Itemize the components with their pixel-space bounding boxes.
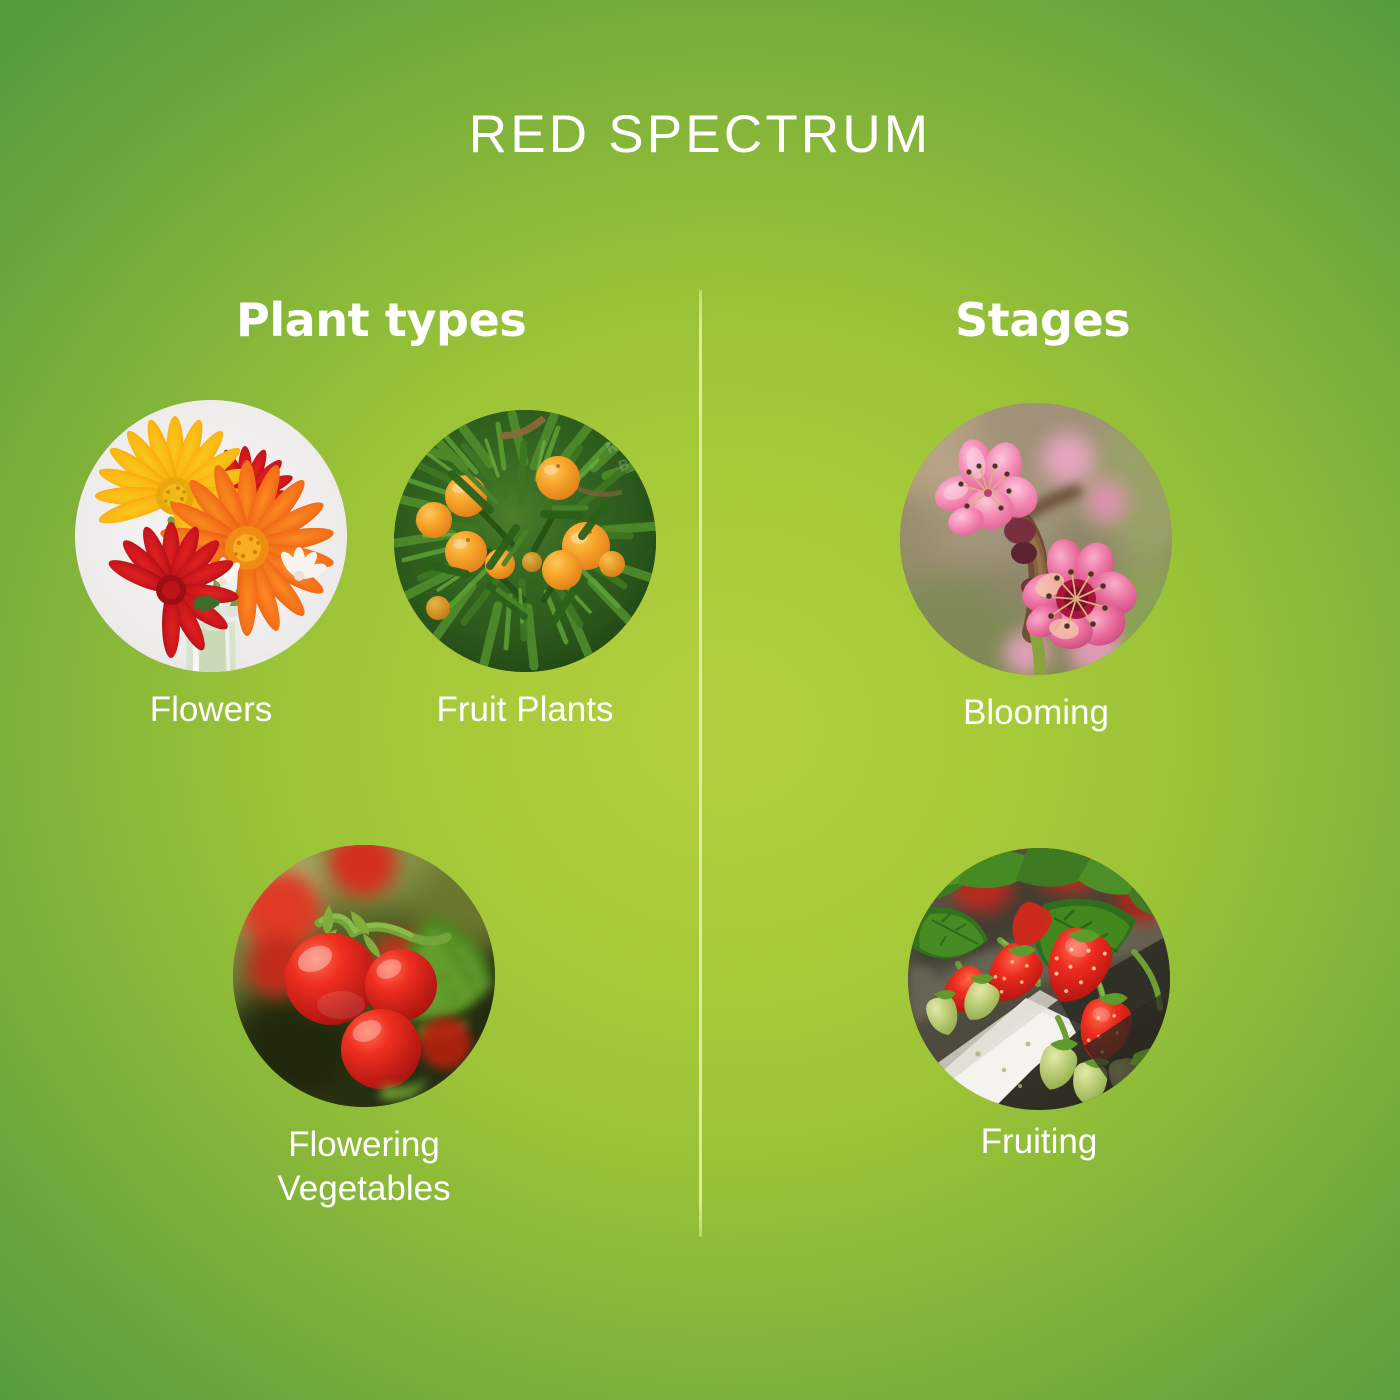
cherry-tomatoes-on-vine-photo [233,845,495,1107]
orange-citrus-tree-photo: R B [394,410,656,672]
circle-image-fruiting [908,848,1170,1110]
card-flowers[interactable]: Flowers [75,400,347,672]
card-flowering-vegetables[interactable]: Flowering Vegetables [233,845,495,1107]
page-title: RED SPECTRUM [0,104,1400,165]
circle-image-blooming [900,403,1172,675]
card-fruiting[interactable]: Fruiting [908,848,1170,1110]
strawberry-plants-in-bed-photo [908,848,1170,1110]
circle-image-flowers [75,400,347,672]
card-caption-blooming: Blooming [871,691,1201,735]
gerbera-flowers-in-glass-jar-photo [75,400,347,672]
card-caption-fruiting: Fruiting [874,1120,1204,1164]
column-heading-stages: Stages [955,293,1130,347]
card-caption-fruit-plants: Fruit Plants [345,688,705,732]
poster-canvas: RED SPECTRUM Plant types Stages [0,0,1400,1400]
column-divider [699,290,702,1237]
circle-image-fruit-plants: R B [394,410,656,672]
card-caption-flowers: Flowers [46,688,376,732]
card-caption-flowering-vegetables: Flowering Vegetables [199,1123,529,1211]
pink-peach-blossom-branch-photo [900,403,1172,675]
card-fruit-plants[interactable]: R B Fruit Plants [394,410,656,672]
circle-image-flowering-vegetables [233,845,495,1107]
card-blooming[interactable]: Blooming [900,403,1172,675]
column-heading-plant-types: Plant types [236,293,526,347]
